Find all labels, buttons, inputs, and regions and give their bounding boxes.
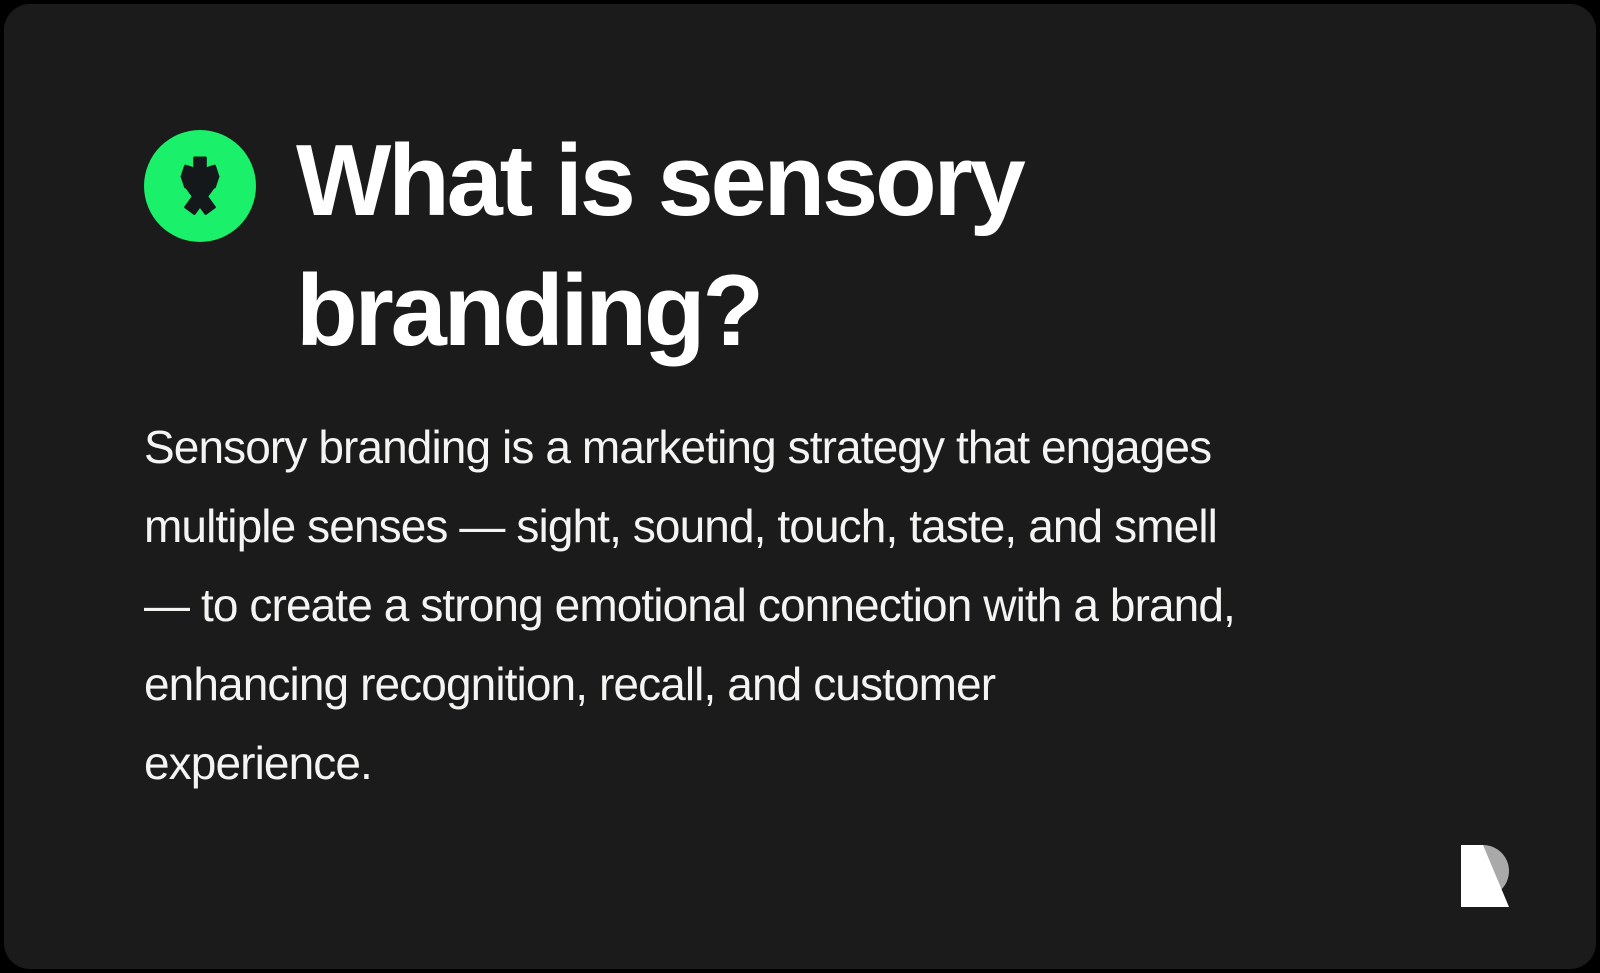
page-title: What is sensory branding?: [144, 116, 1444, 376]
asterisk-badge: [144, 130, 256, 242]
brand-logo: [1453, 845, 1517, 907]
brand-r-logo-icon: [1453, 845, 1517, 907]
asterisk-icon: [144, 130, 256, 242]
heading-row: What is sensory branding?: [144, 116, 1444, 376]
content-card: What is sensory branding? Sensory brandi…: [4, 4, 1596, 969]
body-paragraph: Sensory branding is a marketing strategy…: [144, 408, 1434, 803]
